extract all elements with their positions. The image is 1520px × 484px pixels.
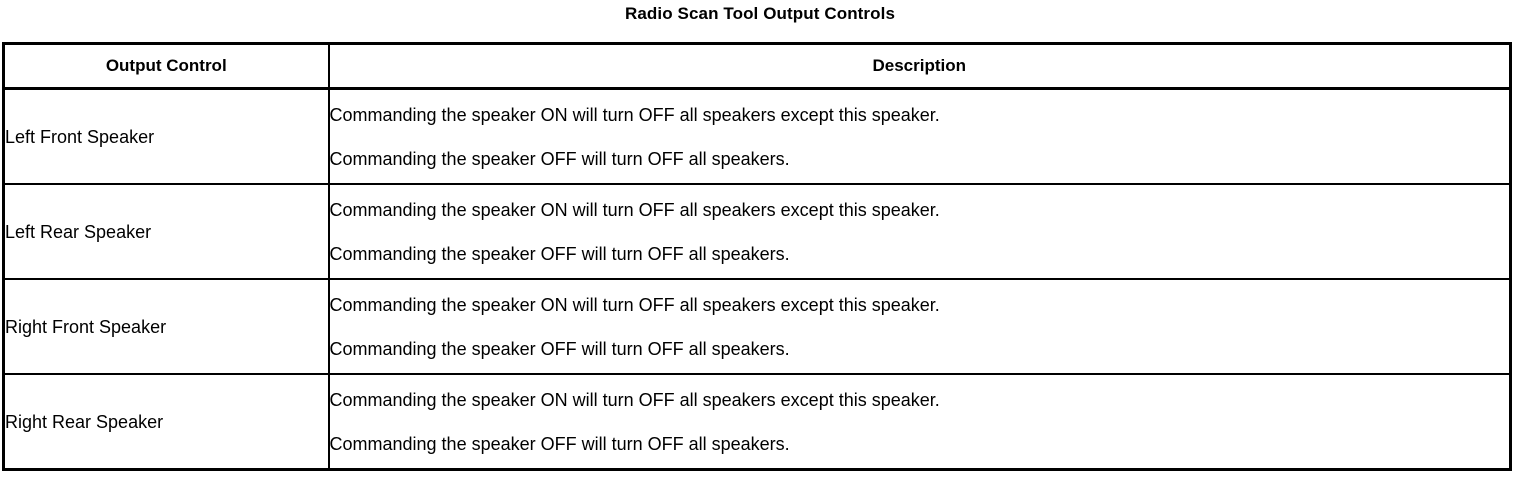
output-controls-table-wrapper: Output Control Description Left Front Sp… (2, 42, 1509, 471)
table-header-row: Output Control Description (4, 44, 1511, 89)
output-controls-table: Output Control Description Left Front Sp… (2, 42, 1512, 471)
page-title: Radio Scan Tool Output Controls (0, 2, 1520, 26)
description-spacer (330, 126, 1510, 148)
table-header: Output Control Description (4, 44, 1511, 89)
document-page: Radio Scan Tool Output Controls Output C… (0, 0, 1520, 484)
description-spacer (330, 411, 1510, 433)
description-line-on: Commanding the speaker ON will turn OFF … (330, 389, 1510, 411)
table-row: Right Rear Speaker Commanding the speake… (4, 374, 1511, 470)
table-body: Left Front Speaker Commanding the speake… (4, 89, 1511, 470)
output-control-name: Right Rear Speaker (4, 374, 329, 470)
description-line-off: Commanding the speaker OFF will turn OFF… (330, 338, 1510, 360)
description-line-off: Commanding the speaker OFF will turn OFF… (330, 433, 1510, 455)
column-header-output-control: Output Control (4, 44, 329, 89)
column-header-description: Description (329, 44, 1511, 89)
table-row: Left Rear Speaker Commanding the speaker… (4, 184, 1511, 279)
description-spacer (330, 221, 1510, 243)
output-control-description: Commanding the speaker ON will turn OFF … (329, 184, 1511, 279)
description-line-on: Commanding the speaker ON will turn OFF … (330, 294, 1510, 316)
description-line-on: Commanding the speaker ON will turn OFF … (330, 199, 1510, 221)
table-row: Left Front Speaker Commanding the speake… (4, 89, 1511, 185)
output-control-description: Commanding the speaker ON will turn OFF … (329, 89, 1511, 185)
output-control-name: Right Front Speaker (4, 279, 329, 374)
description-line-on: Commanding the speaker ON will turn OFF … (330, 104, 1510, 126)
description-line-off: Commanding the speaker OFF will turn OFF… (330, 148, 1510, 170)
output-control-name: Left Rear Speaker (4, 184, 329, 279)
table-row: Right Front Speaker Commanding the speak… (4, 279, 1511, 374)
output-control-description: Commanding the speaker ON will turn OFF … (329, 374, 1511, 470)
output-control-name: Left Front Speaker (4, 89, 329, 185)
output-control-description: Commanding the speaker ON will turn OFF … (329, 279, 1511, 374)
description-line-off: Commanding the speaker OFF will turn OFF… (330, 243, 1510, 265)
description-spacer (330, 316, 1510, 338)
